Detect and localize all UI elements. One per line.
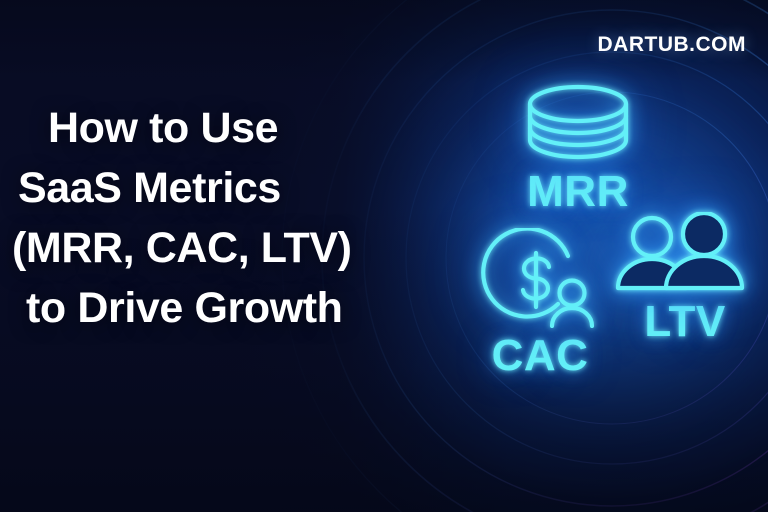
title-line-1: How to Use <box>0 98 420 158</box>
brand-logo-text: DARTUB.COM <box>598 33 746 57</box>
social-share-card: DARTUB.COM How to Use SaaS Metrics (MRR,… <box>0 0 768 512</box>
title-line-2: SaaS Metrics <box>0 158 420 218</box>
title-line-3: (MRR, CAC, LTV) <box>0 218 420 278</box>
title-line-4: to Drive Growth <box>0 278 420 338</box>
page-title: How to Use SaaS Metrics (MRR, CAC, LTV) … <box>0 98 420 338</box>
